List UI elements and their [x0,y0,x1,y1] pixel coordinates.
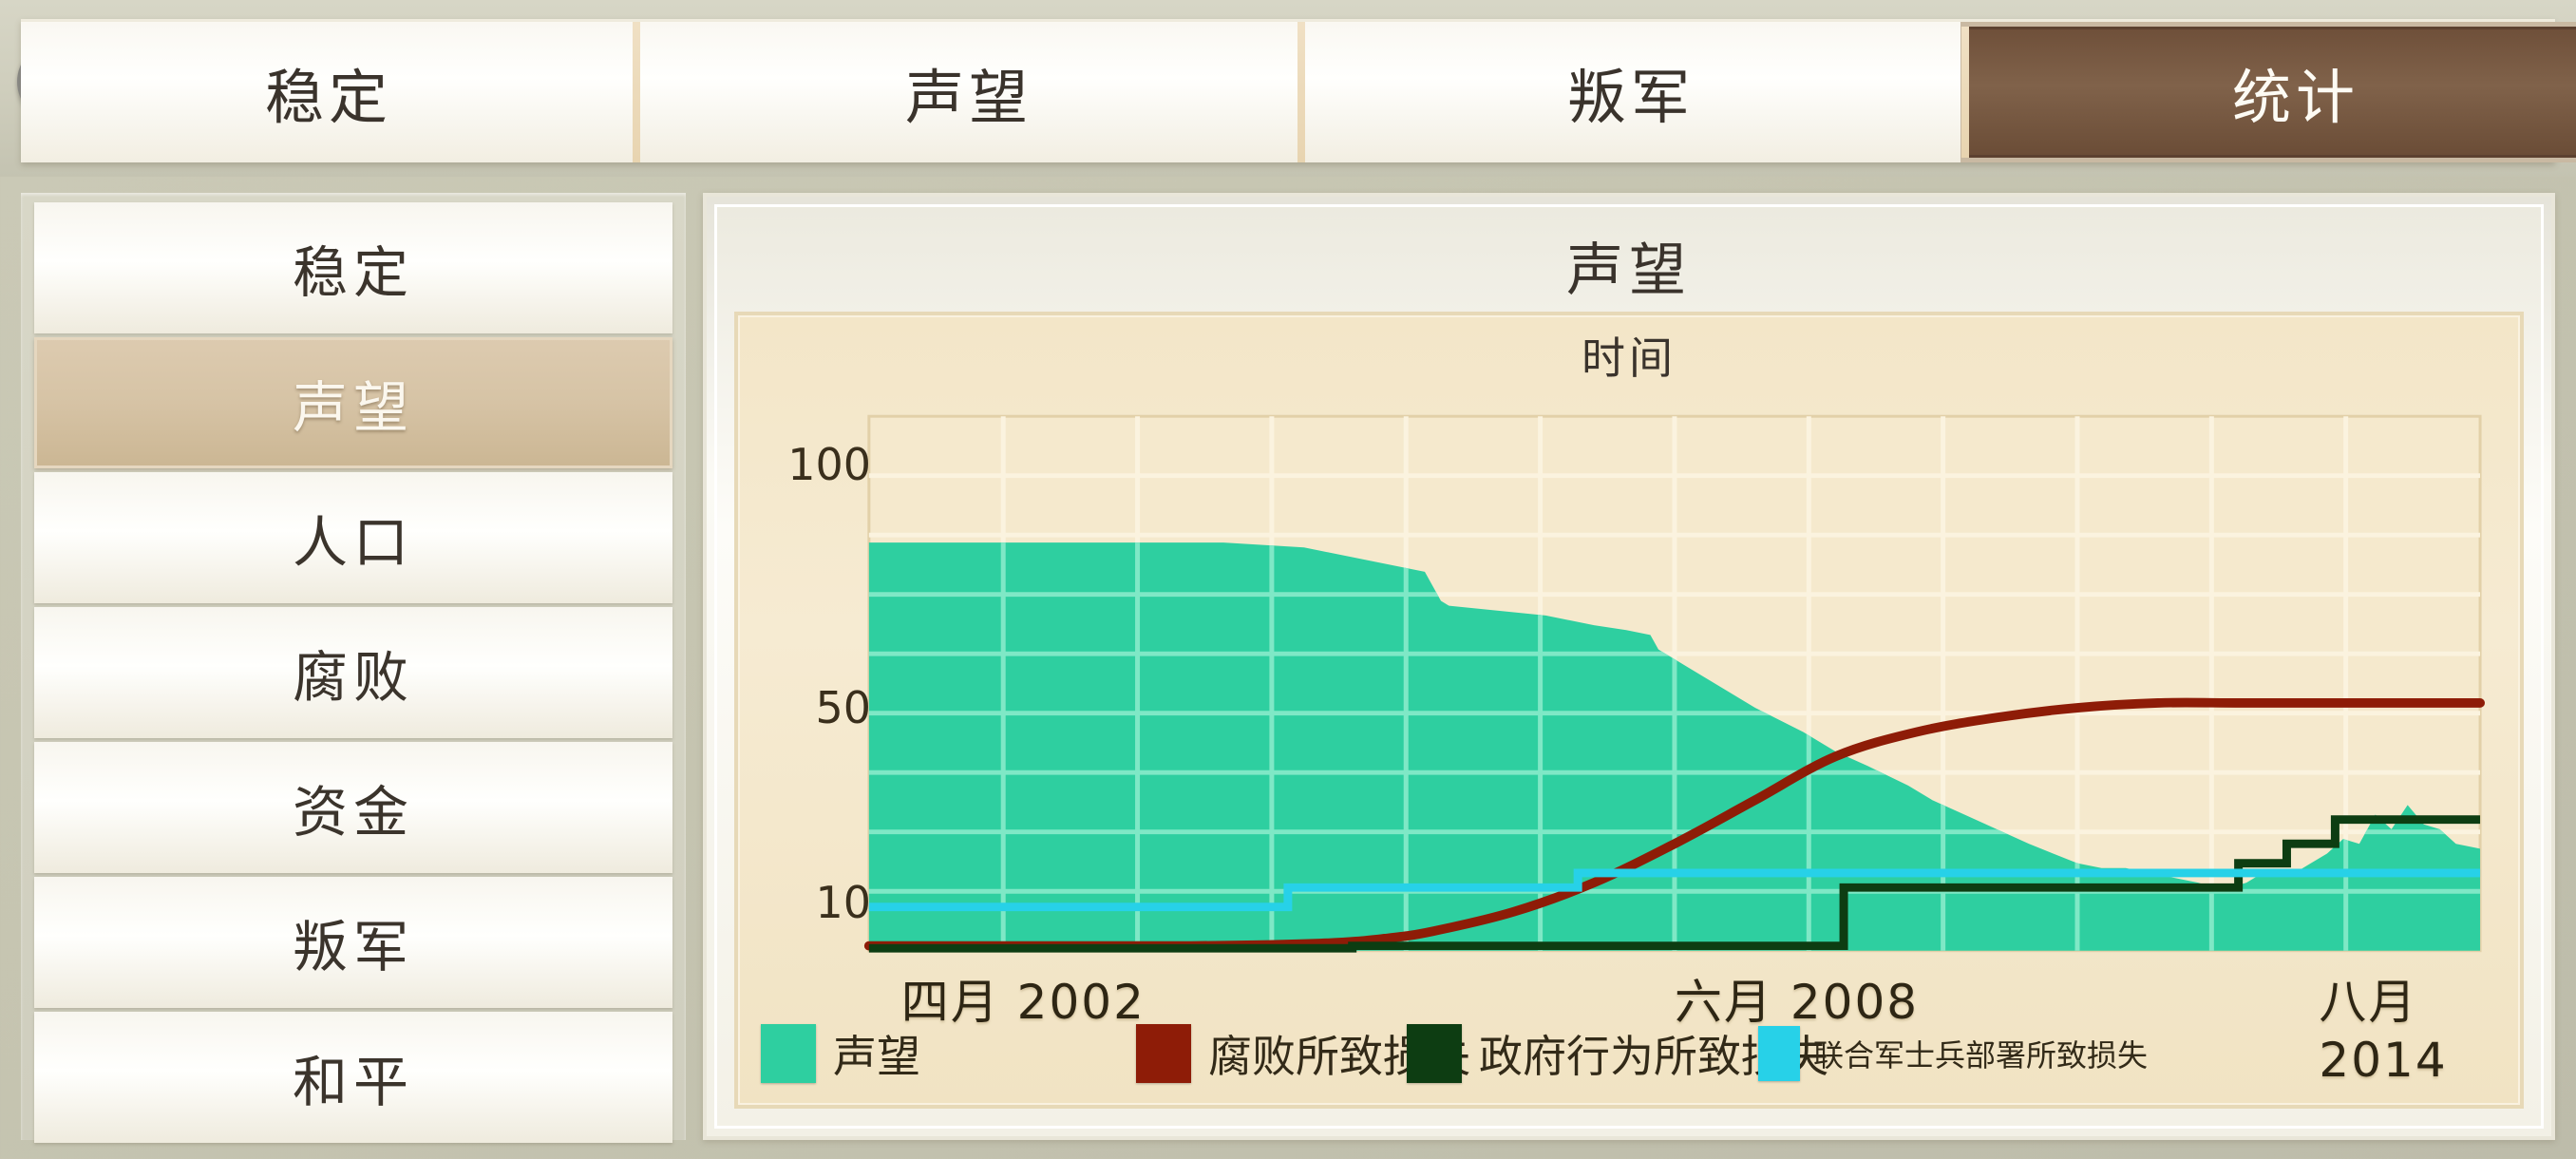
tab-label: 稳定 [265,49,392,135]
sidebar-item-label: 和平 [293,1037,414,1117]
sidebar-item-funds[interactable]: 资金 [34,742,672,873]
legend-label: 声望 [833,1022,920,1085]
tab-label: 叛军 [1567,49,1695,135]
sidebar-item-label: 稳定 [293,228,414,308]
sidebar-item-label: 叛军 [293,902,414,982]
sidebar-item-corruption[interactable]: 腐败 [34,607,672,738]
sidebar-item-stability[interactable]: 稳定 [34,202,672,333]
chart-container: 时间 1005010 四月 2002六月 2008八月 2014 声望腐败所致损… [734,312,2524,1109]
chart-panel-inner: 声望 时间 1005010 四月 2002六月 2008八月 2014 声望腐败… [714,204,2544,1129]
sidebar: 稳定 声望 人口 腐败 资金 叛军 和平 [21,193,686,1140]
y-tick-label: 10 [738,877,871,928]
legend-item: 声望 [761,1022,920,1085]
chart-legend: 声望腐败所致损失政府行为所致损失联合军士兵部署所致损失 [761,1016,2497,1092]
tab-reputation[interactable]: 声望 [636,22,1301,162]
sidebar-item-label: 资金 [293,768,414,847]
tab-rebels[interactable]: 叛军 [1301,22,1960,162]
tab-label: 统计 [2232,49,2359,135]
sidebar-item-population[interactable]: 人口 [34,472,672,603]
legend-swatch [1136,1024,1191,1083]
stats-window: 稳定 声望 叛军 统计 稳定 声望 人口 腐败 资金 叛军 和平 声望 时间 [0,0,2576,1159]
sidebar-item-label: 腐败 [293,633,414,712]
chart-panel: 声望 时间 1005010 四月 2002六月 2008八月 2014 声望腐败… [703,193,2555,1140]
y-tick-label: 100 [738,439,871,490]
tab-bar: 稳定 声望 叛军 统计 [0,0,2576,177]
tab-statistics[interactable]: 统计 [1960,22,2576,162]
sidebar-item-label: 人口 [293,498,414,578]
legend-item: 联合军士兵部署所致损失 [1758,1026,2148,1081]
y-tick-label: 50 [738,682,871,733]
sidebar-item-rebels[interactable]: 叛军 [34,877,672,1008]
legend-swatch [1758,1026,1800,1081]
tab-strip: 稳定 声望 叛军 统计 [21,19,2555,162]
sidebar-item-peace[interactable]: 和平 [34,1012,672,1143]
legend-swatch [1407,1024,1462,1083]
tab-stability[interactable]: 稳定 [21,22,636,162]
legend-label: 联合军士兵部署所致损失 [1813,1032,2148,1075]
tab-label: 声望 [905,49,1032,135]
page-title: 声望 [717,222,2541,308]
sidebar-item-reputation[interactable]: 声望 [34,337,672,468]
legend-swatch [761,1024,816,1083]
sidebar-item-label: 声望 [293,363,414,443]
